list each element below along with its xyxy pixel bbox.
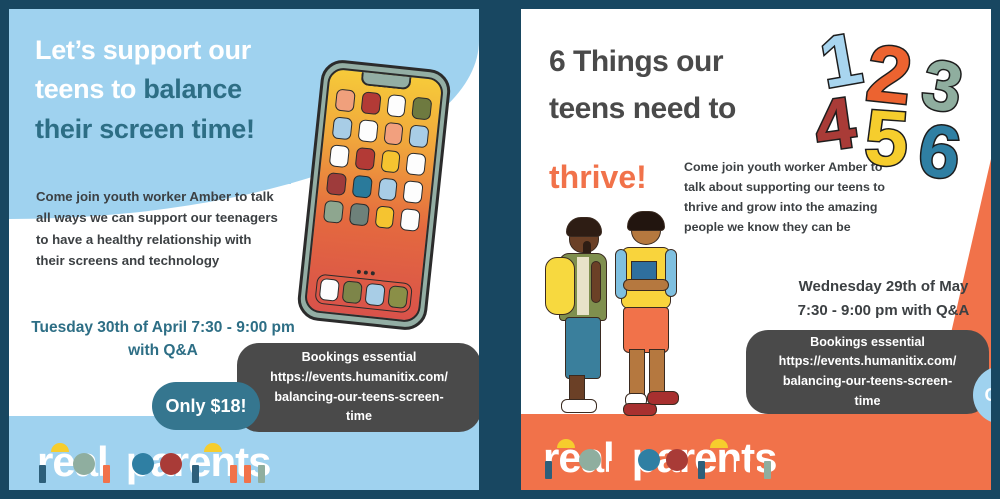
teen-left-hair	[566, 217, 602, 237]
phone-app-icon	[411, 97, 432, 121]
left-headline-line1: Let’s support our	[35, 35, 251, 65]
logo-accent-mark	[103, 465, 110, 483]
right-booking-line4: time	[779, 392, 957, 412]
phone-app-icon	[351, 175, 372, 199]
left-headline-line2a: teens to	[35, 74, 143, 104]
left-logo-word-parents: parents	[126, 441, 271, 483]
teen-left-backpack	[545, 257, 575, 315]
logo-accent-mark	[764, 461, 771, 479]
phone-notch	[360, 72, 411, 90]
right-date-line2: 7:30 - 9:00 pm with Q&A	[771, 299, 991, 323]
phone-page-dots	[357, 270, 375, 276]
number-glyph-6: 6	[914, 112, 965, 191]
logo-accent-mark	[638, 449, 660, 471]
logo-accent-mark	[204, 443, 222, 452]
logo-accent-mark	[244, 465, 251, 483]
logo-accent-mark	[192, 465, 199, 483]
phone-app-icon	[406, 152, 427, 176]
right-date-line1: Wednesday 29th of May	[771, 275, 991, 299]
right-logo-word-real: real	[543, 437, 614, 479]
phone-dock-icon	[342, 280, 363, 304]
teen-right-leg-b	[649, 349, 665, 395]
right-logo-word-parents: parents	[632, 437, 777, 479]
right-date-block: Wednesday 29th of May 7:30 - 9:00 pm wit…	[771, 275, 991, 324]
phone-dock	[314, 274, 413, 314]
phone-app-icon	[383, 122, 404, 146]
logo-accent-mark	[698, 461, 705, 479]
right-booking-line1: Bookings essential	[779, 333, 957, 353]
phone-app-icon	[403, 180, 424, 204]
left-booking-line4: time	[270, 407, 448, 427]
left-brand-logo: real parents	[37, 437, 270, 483]
teen-left-shoe	[561, 399, 597, 413]
phone-app-icon	[323, 200, 344, 224]
logo-accent-mark	[160, 453, 182, 475]
right-headline-thrive: thrive!	[549, 159, 647, 196]
phone-dock-icon	[387, 285, 408, 309]
logo-accent-mark	[750, 461, 757, 479]
left-date-line1: Tuesday 30th of April 7:30 - 9:00 pm	[31, 319, 295, 336]
phone-app-icon	[335, 89, 356, 113]
phone-app-icon	[360, 91, 381, 115]
teen-right-arms	[623, 279, 669, 291]
logo-accent-mark	[736, 461, 743, 479]
teen-left-jeans	[565, 317, 601, 379]
poster-left: Let’s support our teens to balance their…	[0, 0, 488, 499]
left-logo-word-real: real	[37, 441, 108, 483]
number-glyph-5: 5	[862, 98, 911, 179]
logo-accent-mark	[666, 449, 688, 471]
phone-app-icon	[374, 205, 395, 229]
phone-app-icon	[329, 144, 350, 168]
logo-accent-mark	[579, 449, 601, 471]
phone-app-grid	[323, 89, 432, 232]
logo-accent-mark	[132, 453, 154, 475]
logo-accent-mark	[545, 461, 552, 479]
teen-right-backpack-strap-right	[665, 249, 677, 297]
teen-left-shirt	[577, 257, 589, 315]
logo-accent-mark	[230, 465, 237, 483]
poster-right-inner: 123456	[521, 9, 991, 490]
left-price-badge[interactable]: Only $18!	[152, 382, 260, 430]
phone-dock-icon	[364, 283, 385, 307]
logo-accent-mark	[710, 439, 728, 448]
left-headline: Let’s support our teens to balance their…	[35, 31, 320, 149]
left-headline-line2b: balance	[143, 74, 241, 104]
phone-app-icon	[386, 94, 407, 118]
teen-right-leg-a	[629, 349, 645, 397]
left-booking-line1: Bookings essential	[270, 348, 448, 368]
teen-right-shoe-b	[647, 391, 679, 405]
left-booking-line2: https://events.humanitix.com/	[270, 368, 448, 388]
teen-right-backpack-strap-left	[615, 249, 627, 299]
logo-accent-mark	[51, 443, 69, 452]
teen-right-hair	[627, 211, 665, 231]
right-booking-box[interactable]: Bookings essential https://events.humani…	[746, 330, 989, 414]
right-booking-line2: https://events.humanitix.com/	[779, 352, 957, 372]
phone-app-icon	[377, 177, 398, 201]
phone-app-icon	[409, 124, 430, 148]
teen-right-shorts	[623, 307, 669, 353]
smartphone-illustration	[296, 58, 453, 332]
numbers-illustration: 123456	[815, 11, 991, 191]
left-headline-line3: their screen time!	[35, 114, 255, 144]
poster-right: 123456	[512, 0, 1000, 499]
logo-accent-mark	[557, 439, 575, 448]
phone-app-icon	[326, 172, 347, 196]
right-brand-logo: real parents	[543, 433, 776, 479]
left-booking-line3: balancing-our-teens-screen-	[270, 388, 448, 408]
logo-accent-mark	[73, 453, 95, 475]
phone-dock-icon	[319, 278, 340, 302]
right-booking-line3: balancing-our-teens-screen-	[779, 372, 957, 392]
left-body-text: Come join youth worker Amber to talk all…	[36, 186, 281, 272]
poster-left-inner: Let’s support our teens to balance their…	[9, 9, 479, 490]
two-teens-illustration	[539, 217, 704, 433]
phone-app-icon	[380, 150, 401, 174]
logo-accent-mark	[39, 465, 46, 483]
poster-pair-canvas: Let’s support our teens to balance their…	[0, 0, 1000, 499]
logo-accent-mark	[258, 465, 265, 483]
teen-right-book	[631, 261, 657, 281]
phone-app-icon	[357, 119, 378, 143]
logo-accent-mark	[609, 461, 616, 479]
phone-app-icon	[349, 203, 370, 227]
teen-left-arm	[591, 261, 601, 303]
phone-app-icon	[400, 208, 421, 232]
right-headline: 6 Things our teens need to	[549, 39, 849, 132]
right-headline-line1: 6 Things our	[549, 45, 723, 78]
left-booking-box[interactable]: Bookings essential https://events.humani…	[237, 343, 479, 432]
phone-app-icon	[354, 147, 375, 171]
right-headline-line2: teens need to	[549, 92, 736, 125]
phone-app-icon	[332, 116, 353, 140]
